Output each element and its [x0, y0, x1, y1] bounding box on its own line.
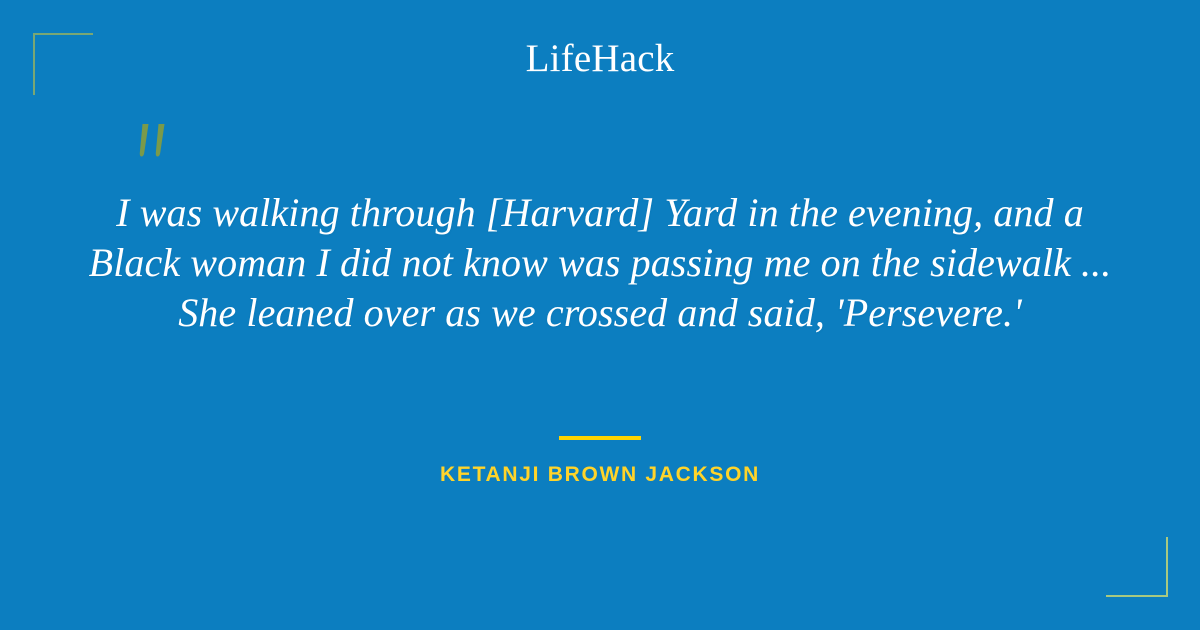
quote-card: LifeHack I was walking through [Harvard]…	[0, 0, 1200, 630]
attribution-divider	[559, 436, 641, 440]
quote-body: I was walking through [Harvard] Yard in …	[80, 188, 1120, 338]
corner-bracket-bottom-right-icon	[1106, 537, 1168, 597]
quote-mark-icon	[131, 122, 175, 170]
quote-attribution: KETANJI BROWN JACKSON	[0, 463, 1200, 487]
lifehack-logo[interactable]: LifeHack	[0, 36, 1200, 82]
